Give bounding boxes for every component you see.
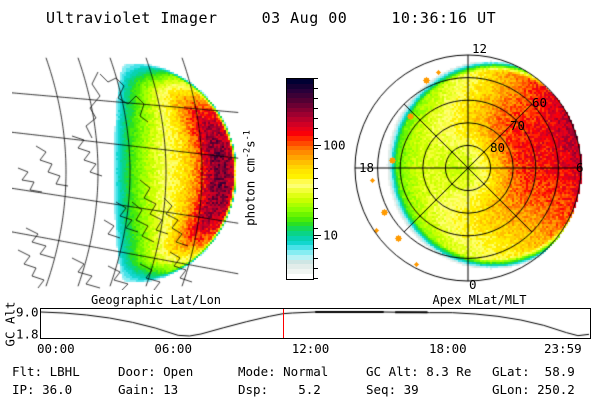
geographic-panel-caption: Geographic Lat/Lon — [56, 293, 256, 307]
colorbar-minor-tick — [314, 238, 318, 239]
status-gc-alt: GC Alt: 8.3 Re — [366, 364, 492, 379]
colorbar-axis-title: photon cm-2s-1 — [243, 130, 258, 226]
mlat-ring-label-60: 60 — [532, 95, 547, 110]
colorbar-unit-exp2: -1 — [242, 130, 252, 140]
colorbar-unit-main: photon cm — [243, 158, 258, 226]
colorbar-tick-label: 100 — [323, 138, 346, 153]
orbit-altitude-curve — [41, 309, 590, 338]
status-dsp: Dsp: 5.2 — [238, 382, 366, 397]
colorbar-minor-tick — [314, 148, 318, 149]
polar-panel-caption: Apex MLat/MLT — [392, 293, 567, 307]
colorbar-minor-tick — [314, 268, 318, 269]
colorbar-gradient[interactable] — [286, 78, 314, 280]
colorbar-major-tick — [314, 145, 321, 146]
colorbar-minor-tick — [314, 88, 318, 89]
colorbar-unit-exp1: -2 — [242, 148, 252, 158]
status-ip: IP: 36.0 — [0, 382, 118, 397]
status-flt: Flt: LBHL — [0, 364, 118, 379]
colorbar-minor-tick — [314, 158, 318, 159]
colorbar-tick-label: 10 — [323, 228, 338, 243]
orbit-xtick-label: 18:00 — [429, 341, 467, 356]
colorbar-minor-tick — [314, 118, 318, 119]
colorbar-tick-marks — [314, 78, 321, 280]
colorbar-major-tick — [314, 235, 321, 236]
colorbar-minor-tick — [314, 188, 318, 189]
colorbar-minor-tick — [314, 128, 318, 129]
colorbar-minor-tick — [314, 98, 318, 99]
polar-aurora-image[interactable] — [352, 50, 588, 290]
mlat-ring-label-70: 70 — [510, 118, 525, 133]
status-glat: GLat: 58.9 — [492, 364, 600, 379]
colorbar-minor-tick — [314, 258, 318, 259]
status-row: IP: 36.0 Gain: 13 Dsp: 5.2 Seq: 39 GLon:… — [0, 380, 600, 398]
geographic-image-panel[interactable] — [12, 52, 244, 290]
orbit-timeline-plot[interactable] — [40, 308, 591, 339]
mlt-label-12: 12 — [472, 41, 487, 56]
current-time-marker[interactable] — [283, 309, 284, 338]
colorbar-band — [287, 274, 313, 279]
orbit-xtick-label: 12:00 — [292, 341, 330, 356]
mlt-label-0: 0 — [469, 277, 477, 292]
colorbar-minor-tick — [314, 78, 318, 79]
orbit-ytick-low: 1.8 — [16, 327, 39, 342]
status-info-block: Flt: LBHL Door: Open Mode: Normal GC Alt… — [0, 362, 600, 398]
observation-date: 03 Aug 00 — [262, 9, 348, 27]
status-seq: Seq: 39 — [366, 382, 492, 397]
colorbar-minor-tick — [314, 168, 318, 169]
colorbar-minor-tick — [314, 208, 318, 209]
header-bar: Ultraviolet Imager 03 Aug 00 10:36:16 UT — [0, 6, 600, 30]
mlat-ring-label-80: 80 — [490, 140, 505, 155]
observation-time: 10:36:16 UT — [391, 9, 496, 27]
colorbar-minor-tick — [314, 138, 318, 139]
colorbar-minor-tick — [314, 198, 318, 199]
colorbar-minor-tick — [314, 218, 318, 219]
colorbar-minor-tick — [314, 278, 318, 279]
colorbar-minor-tick — [314, 248, 318, 249]
mlt-label-18: 18 — [359, 160, 374, 175]
status-door: Door: Open — [118, 364, 238, 379]
status-gain: Gain: 13 — [118, 382, 238, 397]
geographic-aurora-image[interactable] — [12, 52, 244, 290]
colorbar-minor-tick — [314, 228, 318, 229]
orbit-xtick-label: 06:00 — [154, 341, 192, 356]
status-row: Flt: LBHL Door: Open Mode: Normal GC Alt… — [0, 362, 600, 380]
status-glon: GLon: 250.2 — [492, 382, 600, 397]
mlt-label-6: 6 — [576, 160, 584, 175]
orbit-xtick-label: 23:59 — [544, 341, 582, 356]
colorbar-minor-tick — [314, 108, 318, 109]
polar-image-panel[interactable]: 12 6 0 18 60 70 80 — [352, 50, 588, 290]
colorbar-unit-mid: s — [243, 140, 258, 148]
colorbar-minor-tick — [314, 178, 318, 179]
orbit-ytick-high: 9.0 — [16, 305, 39, 320]
orbit-xtick-label: 00:00 — [37, 341, 75, 356]
instrument-title: Ultraviolet Imager — [46, 9, 218, 27]
colorbar[interactable] — [286, 78, 314, 280]
status-mode: Mode: Normal — [238, 364, 366, 379]
